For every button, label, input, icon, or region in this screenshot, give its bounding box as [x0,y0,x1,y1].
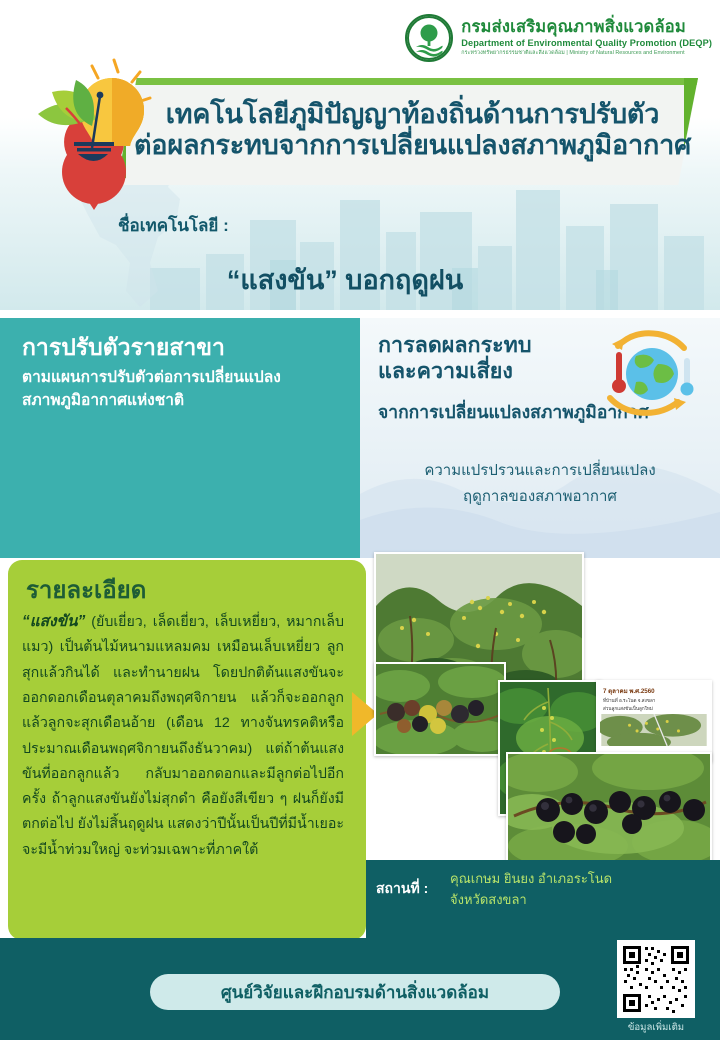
technology-label: ชื่อเทคโนโลยี : [118,212,229,239]
logo-ministry-line: กระทรวงทรัพยากรธรรมชาติและสิ่งแวดล้อม | … [461,51,712,56]
place-value-line1: คุณเกษม ยินยง อำเภอระโนด [450,868,650,889]
organization-pill: ศูนย์วิจัยและฝึกอบรมด้านสิ่งแวดล้อม [150,974,560,1010]
mitigation-heading: การลดผลกระทบ และความเสี่ยง [378,332,531,384]
photo-collage: 7 ตุลาคม พ.ศ.2560 ที่บ้านที่ อ.ระโนด จ.ส… [366,552,720,862]
globe-thermometer-icon [592,326,702,422]
organization-name: ศูนย์วิจัยและฝึกอบรมด้านสิ่งแวดล้อม [221,979,489,1006]
details-body: “แสงขัน” (ยับเยี่ยว, เล็ดเยี่ยว, เล็บเหย… [22,608,344,863]
poster: กรมส่งเสริมคุณภาพสิ่งแวดล้อม Department … [0,0,720,1040]
saeng-khan-ripening-fruit-photo [374,662,506,756]
inset-caption-line1: ที่บ้านที่ อ.ระโนด จ.สงขลา [603,698,710,704]
adaptation-panel: การปรับตัวรายสาขา ตามแผนการปรับตัวต่อการ… [0,318,360,558]
place-label: สถานที่ : [376,878,428,900]
details-lead-term: “แสงขัน” [22,613,85,630]
details-title: รายละเอียด [26,570,146,609]
technology-name: “แสงขัน” บอกฤดูฝน [0,258,690,301]
page-title-line1: เทคโนโลยีภูมิปัญญาท้องถิ่นด้านการปรับตัว [166,99,659,130]
qr-section: ข้อมูลเพิ่มเติม [610,938,702,1040]
deqp-logo: กรมส่งเสริมคุณภาพสิ่งแวดล้อม Department … [405,14,712,62]
mitigation-body-line1: ความแปรปรวนและการเปลี่ยนแปลง [360,458,720,484]
mitigation-heading-line1: การลดผลกระทบ [378,332,531,358]
page-title-line2: ต่อผลกระทบจากการเปลี่ยนแปลงสภาพภูมิอากาศ [134,130,691,161]
details-body-text: (ยับเยี่ยว, เล็ดเยี่ยว, เล็บเหยี่ยว, หมา… [22,614,344,858]
place-value-line2: จังหวัดสงขลา [450,889,650,910]
saeng-khan-black-fruit-photo [506,752,712,862]
more-info-qr-code[interactable] [617,940,695,1018]
deqp-tree-logo-icon [405,14,453,62]
mitigation-panel: การลดผลกระทบ และความเสี่ยง จากการเปลี่ยน… [360,318,720,558]
page-title: เทคโนโลยีภูมิปัญญาท้องถิ่นด้านการปรับตัว… [140,84,685,176]
saeng-khan-document-photo: 7 ตุลาคม พ.ศ.2560 ที่บ้านที่ อ.ระโนด จ.ส… [596,680,712,762]
adaptation-subheading: ตามแผนการปรับตัวต่อการเปลี่ยนแปลง สภาพภู… [22,366,352,413]
adaptation-heading: การปรับตัวรายสาขา [22,330,225,366]
adaptation-subheading-line2: สภาพภูมิอากาศแห่งชาติ [22,389,352,412]
blue-thermometer [681,358,694,396]
place-value: คุณเกษม ยินยง อำเภอระโนด จังหวัดสงขลา [450,868,650,911]
logo-thai-name: กรมส่งเสริมคุณภาพสิ่งแวดล้อม [461,19,712,36]
adaptation-subheading-line1: ตามแผนการปรับตัวต่อการเปลี่ยนแปลง [22,366,352,389]
mitigation-body: ความแปรปรวนและการเปลี่ยนแปลง ฤดูกาลของสภ… [360,458,720,511]
lightbulb-leaf-pin-icon [22,52,172,212]
mitigation-body-line2: ฤดูกาลของสภาพอากาศ [360,484,720,510]
qr-caption: ข้อมูลเพิ่มเติม [610,1020,702,1035]
mitigation-heading-line2: และความเสี่ยง [378,358,531,384]
red-thermometer [612,352,626,393]
inset-caption-line2: ส่วนลูกแสงขันเป็นลูกใหม่ [603,706,710,712]
logo-english-name: Department of Environmental Quality Prom… [461,39,712,48]
inset-caption-title: 7 ตุลาคม พ.ศ.2560 [603,686,710,696]
